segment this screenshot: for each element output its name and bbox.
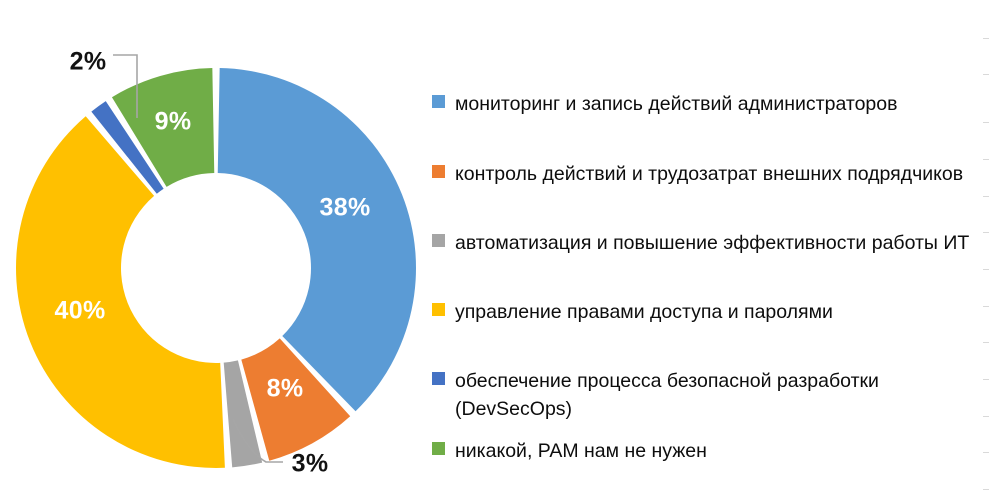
callout-label-automation: 3%: [292, 450, 329, 479]
edge-tick: [983, 489, 989, 490]
plot-area: 38% 8% 40% 9% 2% 3%: [0, 0, 432, 499]
doughnut-chart: 38% 8% 40% 9% 2% 3% мониторинг и запись …: [0, 0, 989, 499]
edge-tick: [983, 452, 989, 453]
edge-tick: [983, 232, 989, 233]
legend: мониторинг и запись действий администрат…: [432, 0, 989, 499]
legend-item-contractors[interactable]: контроль действий и трудозатрат внешних …: [432, 160, 989, 188]
edge-tick: [983, 159, 989, 160]
legend-swatch-icon: [432, 372, 445, 385]
legend-swatch-icon: [432, 303, 445, 316]
legend-item-label: обеспечение процесса безопасной разработ…: [455, 367, 879, 423]
edge-tick: [983, 306, 989, 307]
edge-tick: [983, 122, 989, 123]
legend-item-monitoring[interactable]: мониторинг и запись действий администрат…: [432, 90, 989, 118]
edge-tick: [983, 196, 989, 197]
edge-tick: [983, 38, 989, 39]
legend-item-none-needed[interactable]: никакой, PAM нам не нужен: [432, 437, 989, 465]
legend-item-label: управление правами доступа и паролями: [455, 298, 833, 326]
legend-item-devsecops[interactable]: обеспечение процесса безопасной разработ…: [432, 367, 989, 423]
legend-item-automation[interactable]: автоматизация и повышение эффективности …: [432, 229, 989, 257]
edge-tick: [983, 74, 989, 75]
legend-item-label: никакой, PAM нам не нужен: [455, 437, 707, 465]
edge-tick: [983, 416, 989, 417]
legend-item-access-rights[interactable]: управление правами доступа и паролями: [432, 298, 989, 326]
slice-group: [16, 68, 416, 468]
legend-swatch-icon: [432, 234, 445, 247]
legend-item-label: контроль действий и трудозатрат внешних …: [455, 160, 963, 188]
callout-label-devsecops: 2%: [70, 48, 107, 77]
edge-tick: [983, 379, 989, 380]
doughnut-graphic: [0, 0, 432, 499]
legend-item-label: автоматизация и повышение эффективности …: [455, 229, 969, 257]
legend-swatch-icon: [432, 442, 445, 455]
legend-item-label: мониторинг и запись действий администрат…: [455, 90, 897, 118]
edge-tick: [983, 342, 989, 343]
edge-tick: [983, 269, 989, 270]
legend-swatch-icon: [432, 95, 445, 108]
legend-swatch-icon: [432, 165, 445, 178]
